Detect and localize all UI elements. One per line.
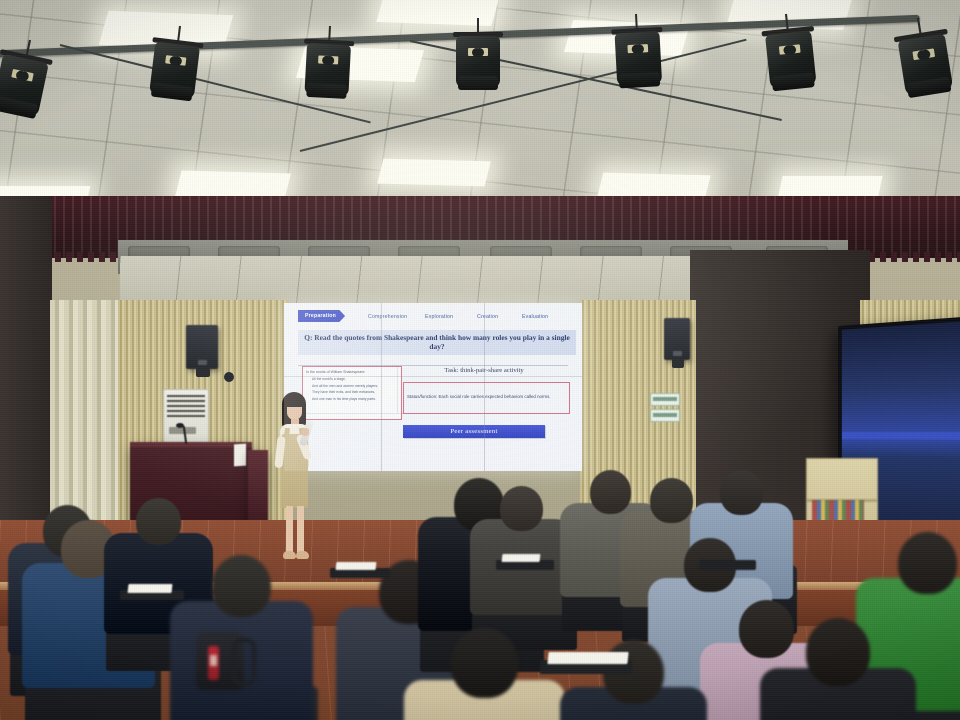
presenter (272, 392, 320, 570)
tab-label: Comprehension (368, 314, 407, 320)
notepad (128, 584, 173, 593)
quote-line: And all the men and women merely players… (312, 384, 398, 388)
audience-head (806, 618, 871, 686)
backpack-strap (232, 638, 256, 686)
slide-task-title: Task: think-pair-share activity (404, 367, 564, 374)
display-band (842, 432, 960, 440)
tab-label: Creation (477, 314, 498, 320)
audience-head (650, 478, 693, 523)
ceiling-panel-light (376, 0, 499, 26)
presenter-fringe (285, 396, 304, 407)
speaker-mount-left (196, 368, 210, 377)
wall-notice-upper (650, 393, 680, 406)
tablet-arm-desk (700, 560, 756, 570)
quote-heading: In the words of William Shakespeare: (306, 370, 398, 374)
slide-tab-comprehension[interactable]: Comprehension (368, 314, 407, 320)
presenter-leg (286, 506, 293, 554)
wall-speaker-right (664, 318, 690, 360)
presenter-hand (302, 428, 309, 436)
lectern-paper (234, 444, 246, 467)
camera-mount-left (224, 372, 234, 382)
lecture-hall-photo: Preparation Comprehension Exploration Cr… (0, 0, 960, 720)
presenter-leg (297, 506, 304, 554)
notepad (336, 562, 377, 570)
audience-head (136, 498, 181, 545)
speaker-mount-right (672, 358, 684, 368)
slide-tab-evaluation[interactable]: Evaluation (522, 314, 548, 320)
audience-head (720, 470, 763, 515)
tab-label: Exploration (425, 314, 453, 320)
peer-assessment-button[interactable]: Peer assessment (403, 425, 545, 438)
tab-label: Preparation (305, 313, 336, 319)
norm-text: Status/function: Each social role carrie… (407, 394, 551, 399)
audience-head (898, 532, 957, 594)
notepad (547, 652, 628, 664)
audience-member (760, 618, 916, 720)
audience-head (212, 555, 271, 617)
quote-line: And one man in his time plays many parts… (312, 397, 398, 401)
slide-tab-exploration[interactable]: Exploration (425, 314, 453, 320)
ceiling-panel-light (377, 159, 491, 187)
audience-head (451, 628, 518, 698)
wall-notice-lower (650, 409, 680, 422)
slide-tab-row: Preparation Comprehension Exploration Cr… (284, 311, 582, 325)
quote-line: All the world's a stage, (312, 377, 398, 381)
projection-screen[interactable]: Preparation Comprehension Exploration Cr… (284, 303, 582, 471)
slide-tab-preparation[interactable]: Preparation (298, 310, 345, 322)
slide-tab-creation[interactable]: Creation (477, 314, 498, 320)
audience-member (404, 628, 565, 720)
wall-speaker-left (186, 325, 218, 369)
water-bottle (208, 646, 219, 680)
air-conditioner-grill (167, 395, 206, 419)
slide-question-banner: Q: Read the quotes from Shakespeare and … (298, 330, 576, 355)
tab-label: Evaluation (522, 314, 548, 320)
notepad (502, 554, 541, 562)
peer-assessment-label: Peer assessment (450, 428, 497, 435)
audience-head (500, 486, 543, 531)
slide-content: Preparation Comprehension Exploration Cr… (284, 303, 582, 471)
slide-question-text: Q: Read the quotes from Shakespeare and … (302, 333, 572, 352)
quote-line: They have their exits, and their entranc… (312, 390, 398, 394)
slide-norm-callout: Status/function: Each social role carrie… (403, 382, 570, 414)
